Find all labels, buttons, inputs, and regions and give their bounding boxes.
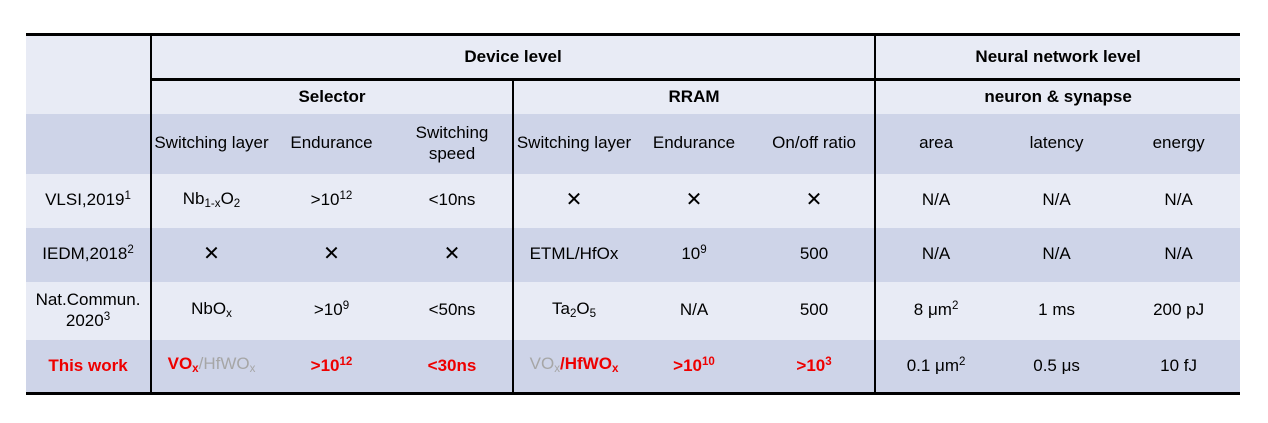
cell-nn-latency-row3: 1 ms [996,282,1117,340]
col-header-selector-switching-layer: Switching layer [151,114,271,174]
cell-nn-latency-row2: N/A [996,228,1117,282]
cell-selector-endurance-row1: >1012 [271,174,392,228]
header-row-sub-groups: Selector RRAM neuron & synapse [26,80,1240,114]
cell-rram-onoff-ratio-row1: ✕ [754,174,875,228]
col-header-selector-switching-speed: Switching speed [392,114,513,174]
cell-selector-switching-layer-row2: ✕ [151,228,271,282]
cell-rram-switching-layer-row1: ✕ [513,174,634,228]
col-header-rram-endurance: Endurance [634,114,754,174]
row-label-4: This work [26,340,151,394]
corner-cell-sub [26,80,151,114]
cell-rram-onoff-ratio-row3: 500 [754,282,875,340]
cell-nn-energy-row1: N/A [1117,174,1240,228]
cell-selector-switching-speed-row1: <10ns [392,174,513,228]
header-row-columns: Switching layer Endurance Switching spee… [26,114,1240,174]
cell-nn-energy-row3: 200 pJ [1117,282,1240,340]
cell-selector-switching-layer-row4: VOx/HfWOx [151,340,271,394]
group-header-neuron-synapse: neuron & synapse [875,80,1240,114]
cell-nn-energy-row2: N/A [1117,228,1240,282]
cell-nn-area-row4: 0.1 μm2 [875,340,996,394]
cell-nn-latency-row1: N/A [996,174,1117,228]
cell-rram-endurance-row1: ✕ [634,174,754,228]
table-row: IEDM,20182✕✕✕ETML/HfOx109500N/AN/AN/A [26,228,1240,282]
table-row: VLSI,20191Nb1-xO2>1012<10ns✕✕✕N/AN/AN/A [26,174,1240,228]
col-header-nn-latency: latency [996,114,1117,174]
cell-selector-switching-speed-row4: <30ns [392,340,513,394]
cell-rram-onoff-ratio-row2: 500 [754,228,875,282]
corner-cell-top [26,35,151,80]
col-header-rram-onoff-ratio: On/off ratio [754,114,875,174]
cell-nn-latency-row4: 0.5 μs [996,340,1117,394]
header-row-top-groups: Device level Neural network level [26,35,1240,80]
cell-rram-endurance-row3: N/A [634,282,754,340]
cell-selector-endurance-row3: >109 [271,282,392,340]
col-header-selector-endurance: Endurance [271,114,392,174]
cell-selector-endurance-row4: >1012 [271,340,392,394]
cell-rram-switching-layer-row2: ETML/HfOx [513,228,634,282]
cell-nn-area-row2: N/A [875,228,996,282]
cell-selector-switching-layer-row1: Nb1-xO2 [151,174,271,228]
group-header-selector: Selector [151,80,513,114]
row-label-1: VLSI,20191 [26,174,151,228]
cell-rram-onoff-ratio-row4: >103 [754,340,875,394]
cell-nn-area-row1: N/A [875,174,996,228]
table-figure-root: Device level Neural network level Select… [0,0,1268,423]
row-label-2: IEDM,20182 [26,228,151,282]
row-label-3: Nat.Commun. 20203 [26,282,151,340]
cell-nn-area-row3: 8 μm2 [875,282,996,340]
cell-selector-switching-speed-row3: <50ns [392,282,513,340]
corner-cell-columns [26,114,151,174]
col-header-nn-area: area [875,114,996,174]
col-header-nn-energy: energy [1117,114,1240,174]
group-header-rram: RRAM [513,80,875,114]
cell-rram-endurance-row4: >1010 [634,340,754,394]
cell-selector-endurance-row2: ✕ [271,228,392,282]
cell-selector-switching-speed-row2: ✕ [392,228,513,282]
group-header-neural-network-level: Neural network level [875,35,1240,80]
table-row: Nat.Commun. 20203NbOx>109<50nsTa2O5N/A50… [26,282,1240,340]
col-header-rram-switching-layer: Switching layer [513,114,634,174]
cell-rram-switching-layer-row4: VOx/HfWOx [513,340,634,394]
cell-selector-switching-layer-row3: NbOx [151,282,271,340]
group-header-device-level: Device level [151,35,875,80]
cell-rram-switching-layer-row3: Ta2O5 [513,282,634,340]
table-row: This workVOx/HfWOx>1012<30nsVOx/HfWOx>10… [26,340,1240,394]
comparison-table: Device level Neural network level Select… [26,33,1240,395]
cell-nn-energy-row4: 10 fJ [1117,340,1240,394]
cell-rram-endurance-row2: 109 [634,228,754,282]
